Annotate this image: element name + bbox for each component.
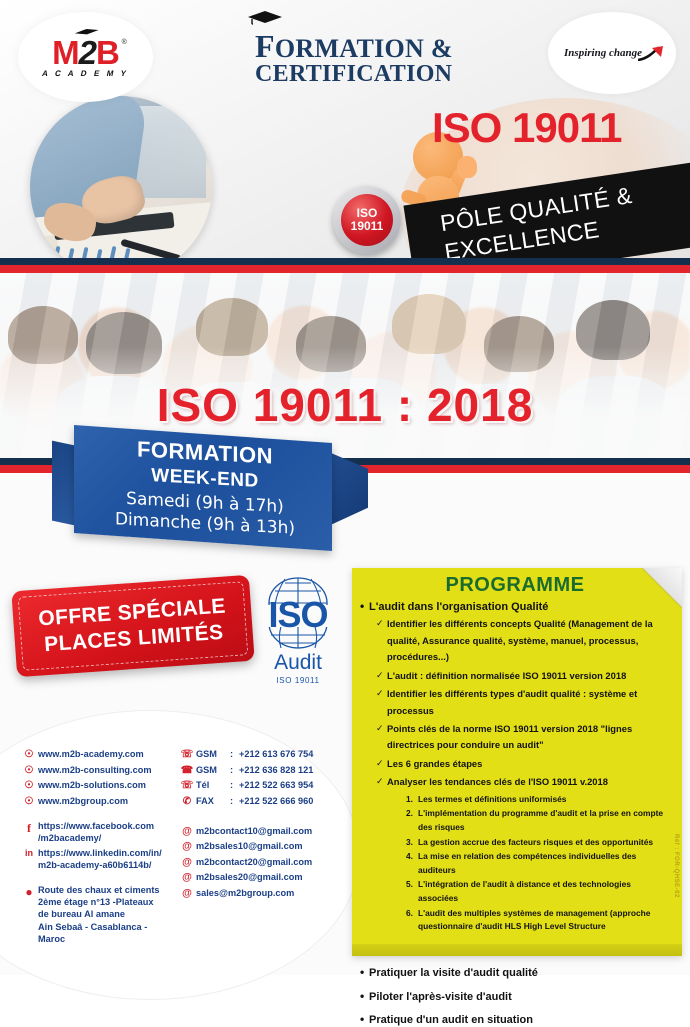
poster-root: M2B A C A D E M Y ® Inspiring change FOR… <box>0 0 690 975</box>
phone-row[interactable]: ☏ Tél:+212 522 663 954 <box>178 779 398 791</box>
page-title: ISO 19011 : 2018 <box>0 378 690 432</box>
phone-icon: ☏ <box>178 779 196 791</box>
programme-numbered-item: 3.La gestion accrue des facteurs risques… <box>406 836 670 850</box>
numbered-text: La mise en relation des compétences indi… <box>418 851 636 875</box>
programme-check-item: Points clés de la norme ISO 19011 versio… <box>376 721 670 754</box>
inspiring-change-badge: Inspiring change <box>548 12 676 94</box>
email-address[interactable]: m2bsales20@gmail.com <box>196 871 303 883</box>
fax-icon: ✆ <box>178 795 196 807</box>
address-line: Maroc <box>38 934 65 944</box>
address-line: de bureau Al amane <box>38 909 125 919</box>
programme-check-item: Les 6 grandes étapes <box>376 756 670 772</box>
programme-final-bullet: Pratiquer la visite d'audit qualité <box>360 966 670 980</box>
formation-certification-title: FORMATION & CERTIFICATION <box>255 28 453 88</box>
header-section: M2B A C A D E M Y ® Inspiring change FOR… <box>0 0 690 258</box>
special-offer-badge[interactable]: OFFRE SPÉCIALE PLACES LIMITÉS <box>11 575 254 677</box>
fax-label: FAX <box>196 795 230 807</box>
email-row[interactable]: @ sales@m2bgroup.com <box>178 887 398 899</box>
registered-icon: ® <box>122 39 127 46</box>
programme-numbered-item: 2.L'implémentation du programme d'audit … <box>406 807 670 834</box>
whatsapp-icon: ☎ <box>178 764 196 776</box>
programme-numbered-item: 5.L'intégration de l'audit à distance et… <box>406 878 670 905</box>
email-icon: @ <box>178 825 196 837</box>
email-row[interactable]: @ m2bsales20@gmail.com <box>178 871 398 883</box>
email-address[interactable]: sales@m2bgroup.com <box>196 887 294 899</box>
facebook-link-line2: /m2bacademy/ <box>38 833 101 843</box>
graduation-cap-icon <box>247 11 283 25</box>
programme-numbered-item: 6.L'audit des multiples systèmes de mana… <box>406 907 670 934</box>
programme-numbered-item: 4.La mise en relation des compétences in… <box>406 850 670 877</box>
globe-icon: ☉ <box>20 748 38 760</box>
numbered-text: L'implémentation du programme d'audit et… <box>418 808 663 832</box>
programme-numbered-item: 1.Les termes et définitions uniformisés <box>406 793 670 807</box>
phone-row[interactable]: ☎ GSM:+212 636 828 121 <box>178 764 398 776</box>
email-icon: @ <box>178 871 196 883</box>
iso-19011-badge-icon: ISO 19011 <box>333 186 401 254</box>
iso-audit-logo: ISO Audit ISO 19011 <box>248 575 348 685</box>
tagline-text: Inspiring change <box>564 47 642 59</box>
fax-value: +212 522 666 960 <box>239 796 313 806</box>
location-pin-icon: ● <box>20 884 38 899</box>
phone-label: GSM <box>196 748 230 760</box>
numbered-text: Les termes et définitions uniformisés <box>418 794 566 804</box>
email-icon: @ <box>178 840 196 852</box>
fax-row: ✆ FAX:+212 522 666 960 <box>178 795 398 807</box>
email-address[interactable]: m2bcontact20@gmail.com <box>196 856 312 868</box>
formation-weekend-banner: FORMATION WEEK-END Samedi (9h à 17h) Dim… <box>52 434 352 554</box>
programme-check-item: Identifier les différents types d'audit … <box>376 686 670 719</box>
phone-icon: ☏ <box>178 748 196 760</box>
programme-title: PROGRAMME <box>360 574 670 597</box>
phone-label: Tél <box>196 779 230 791</box>
title-line1: ORMATION & <box>275 34 453 63</box>
title-initial: F <box>255 28 275 64</box>
address-line: Route des chaux et ciments <box>38 885 160 895</box>
programme-check-item: L'audit : définition normalisée ISO 1901… <box>376 668 670 684</box>
website-link[interactable]: www.m2b-academy.com <box>38 748 144 760</box>
linkedin-link-line2: m2b-academy-a60b6114b/ <box>38 860 151 870</box>
title-line2: CERTIFICATION <box>255 61 453 88</box>
phone-label: GSM <box>196 764 230 776</box>
workspace-photo <box>30 96 212 258</box>
facebook-link-line1: https://www.facebook.com <box>38 821 154 831</box>
logo-letter-b: B <box>96 34 119 71</box>
phone-row[interactable]: ☏ GSM:+212 613 676 754 <box>178 748 398 760</box>
email-address[interactable]: m2bsales10@gmail.com <box>196 840 303 852</box>
phone-value[interactable]: +212 636 828 121 <box>239 765 313 775</box>
contact-phones-block: ☏ GSM:+212 613 676 754 ☎ GSM:+212 636 82… <box>178 748 398 903</box>
programme-final-bullet: Pratique d'un audit en situation <box>360 1013 670 1027</box>
globe-icon: ☉ <box>20 795 38 807</box>
facebook-icon: f <box>20 820 38 836</box>
programme-panel: PROGRAMME L'audit dans l'organisation Qu… <box>352 568 682 956</box>
website-link[interactable]: www.m2b-solutions.com <box>38 779 146 791</box>
numbered-text: La gestion accrue des facteurs risques e… <box>418 837 653 847</box>
globe-icon: ☉ <box>20 779 38 791</box>
logo-digit-2: 2 <box>79 34 96 71</box>
programme-check-item: Identifier les différents concepts Quali… <box>376 616 670 665</box>
website-link[interactable]: www.m2b-consulting.com <box>38 764 152 776</box>
coin-label-number: 19011 <box>351 220 384 233</box>
linkedin-icon: in <box>20 847 38 858</box>
email-row[interactable]: @ m2bsales10@gmail.com <box>178 840 398 852</box>
linkedin-link-line1: https://www.linkedin.com/in/ <box>38 848 162 858</box>
website-link[interactable]: www.m2bgroup.com <box>38 795 128 807</box>
phone-value[interactable]: +212 613 676 754 <box>239 749 313 759</box>
numbered-text: L'intégration de l'audit à distance et d… <box>418 879 631 903</box>
programme-section-heading: L'audit dans l'organisation Qualité <box>360 600 670 614</box>
growth-arrow-icon <box>638 45 664 61</box>
iso-standard-number: ISO 19011 <box>432 104 622 152</box>
iso-audit-sub: ISO 19011 <box>248 676 348 685</box>
address-line: 2ème étage n°13 -Plateaux <box>38 897 154 907</box>
numbered-text: L'audit des multiples systèmes de manage… <box>418 908 650 932</box>
divider-red-top <box>0 265 690 273</box>
audit-word: Audit <box>248 651 348 675</box>
programme-check-item: Analyser les tendances clés de l'ISO 190… <box>376 774 670 790</box>
m2b-academy-logo[interactable]: M2B A C A D E M Y ® <box>18 12 153 102</box>
programme-final-bullet: Piloter l'après-visite d'audit <box>360 990 670 1004</box>
logo-academy-word: A C A D E M Y <box>41 70 129 78</box>
globe-icon: ☉ <box>20 764 38 776</box>
email-icon: @ <box>178 856 196 868</box>
document-reference: Réf : FOR-QHSE-02 <box>673 834 679 898</box>
email-address[interactable]: m2bcontact10@gmail.com <box>196 825 312 837</box>
email-row[interactable]: @ m2bcontact10@gmail.com <box>178 825 398 837</box>
email-icon: @ <box>178 887 196 899</box>
email-row[interactable]: @ m2bcontact20@gmail.com <box>178 856 398 868</box>
address-line: Ain Sebaâ - Casablanca - <box>38 922 147 932</box>
divider-navy-top <box>0 258 690 265</box>
phone-value[interactable]: +212 522 663 954 <box>239 780 313 790</box>
